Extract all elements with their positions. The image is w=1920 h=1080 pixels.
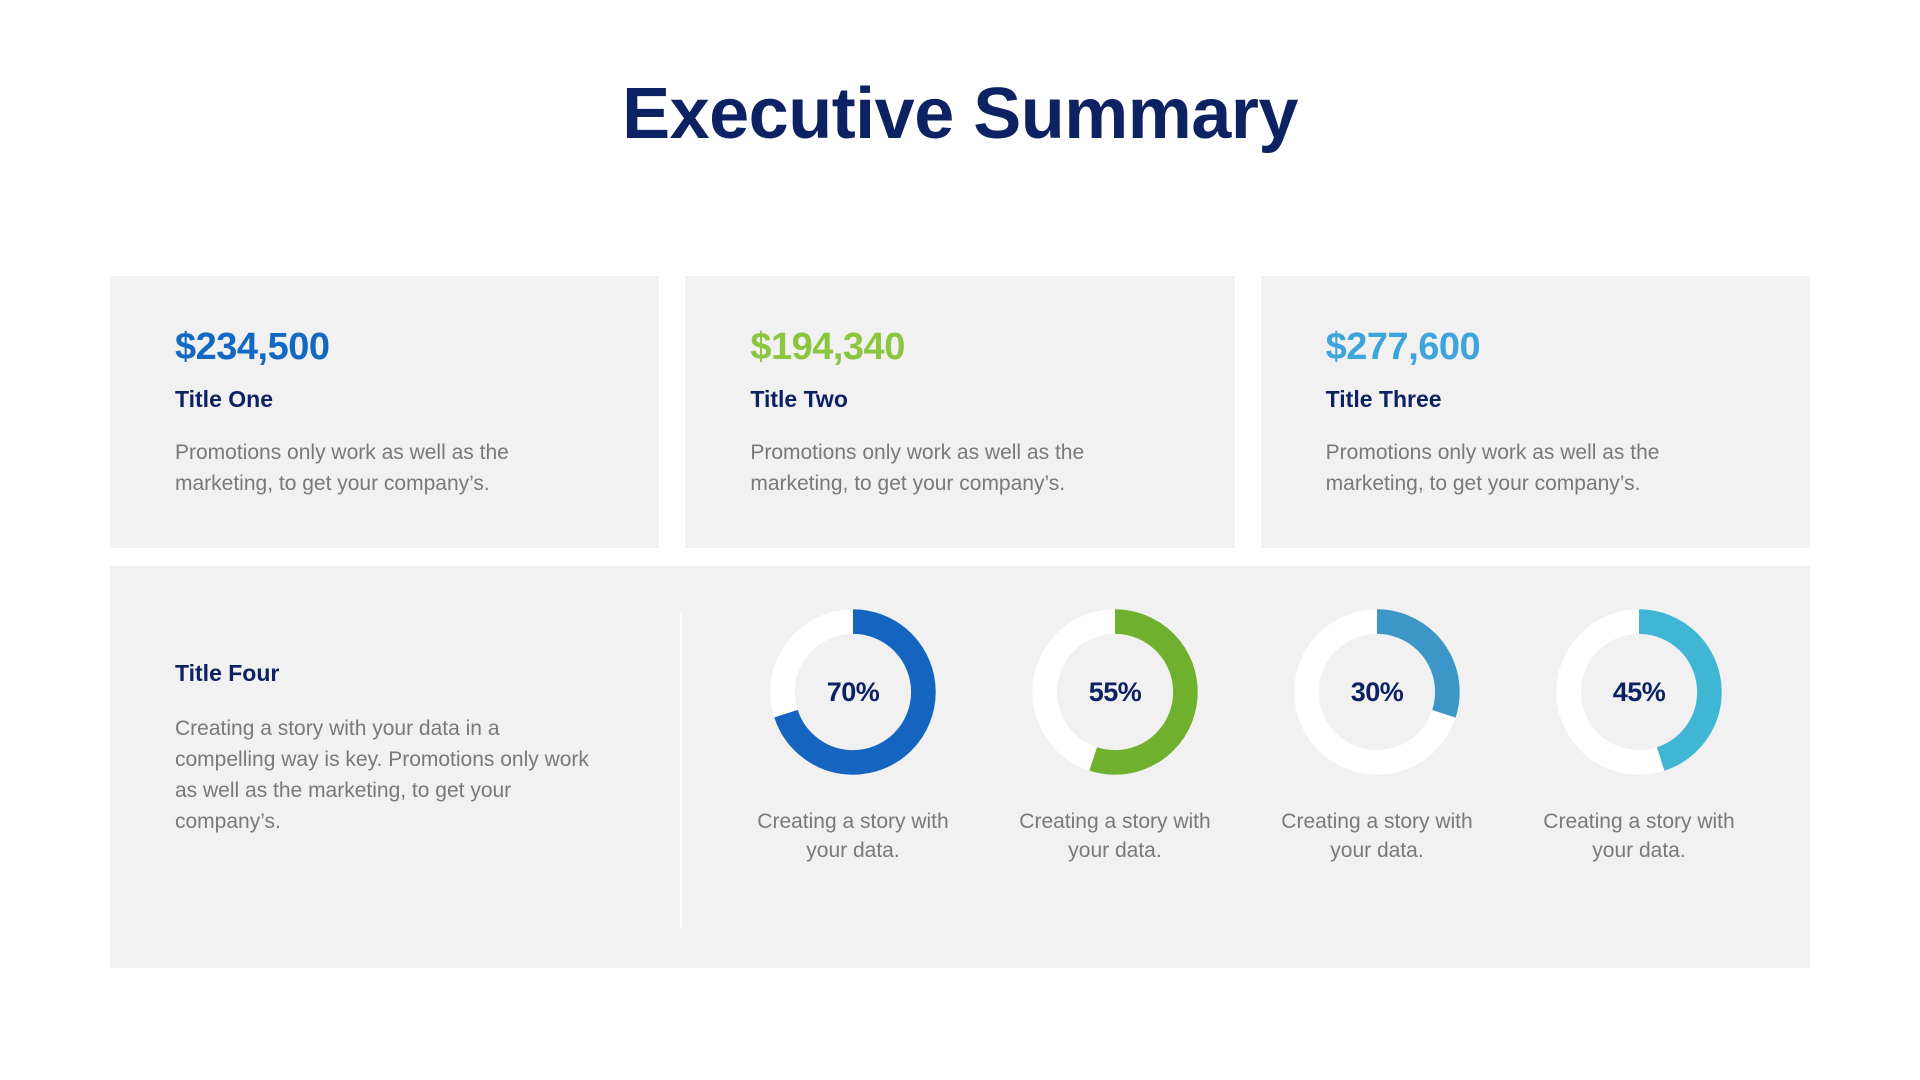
- donut-chart-three: 30%: [1289, 604, 1465, 780]
- bottom-panel: Title Four Creating a story with your da…: [110, 566, 1810, 968]
- stat-description: Promotions only work as well as the mark…: [1326, 437, 1756, 499]
- donut-percent-label: 70%: [765, 604, 941, 780]
- donut-caption: Creating a story with your data.: [753, 808, 953, 865]
- donut-caption: Creating a story with your data.: [1015, 808, 1215, 865]
- slide-canvas: Executive Summary $234,500 Title One Pro…: [0, 0, 1920, 1080]
- stat-value: $234,500: [175, 328, 659, 366]
- stat-title: Title Three: [1326, 388, 1810, 411]
- donut-chart-group: 70% Creating a story with your data. 55%…: [682, 566, 1810, 968]
- donut-chart-one: 70%: [765, 604, 941, 780]
- stat-title: Title Two: [750, 388, 1234, 411]
- panel-text-block: Title Four Creating a story with your da…: [110, 566, 680, 968]
- donut-item[interactable]: 45% Creating a story with your data.: [1514, 604, 1764, 865]
- donut-chart-two: 55%: [1027, 604, 1203, 780]
- donut-item[interactable]: 30% Creating a story with your data.: [1252, 604, 1502, 865]
- donut-item[interactable]: 55% Creating a story with your data.: [990, 604, 1240, 865]
- donut-item[interactable]: 70% Creating a story with your data.: [728, 604, 978, 865]
- panel-description: Creating a story with your data in a com…: [175, 713, 595, 837]
- donut-chart-four: 45%: [1551, 604, 1727, 780]
- stat-card-two[interactable]: $194,340 Title Two Promotions only work …: [685, 276, 1234, 548]
- stat-card-one[interactable]: $234,500 Title One Promotions only work …: [110, 276, 659, 548]
- panel-title: Title Four: [175, 662, 680, 685]
- donut-percent-label: 30%: [1289, 604, 1465, 780]
- donut-caption: Creating a story with your data.: [1539, 808, 1739, 865]
- donut-caption: Creating a story with your data.: [1277, 808, 1477, 865]
- page-title: Executive Summary: [0, 76, 1920, 154]
- stat-cards-row: $234,500 Title One Promotions only work …: [110, 276, 1810, 548]
- stat-title: Title One: [175, 388, 659, 411]
- donut-percent-label: 55%: [1027, 604, 1203, 780]
- stat-value: $194,340: [750, 328, 1234, 366]
- stat-description: Promotions only work as well as the mark…: [175, 437, 605, 499]
- donut-percent-label: 45%: [1551, 604, 1727, 780]
- stat-card-three[interactable]: $277,600 Title Three Promotions only wor…: [1261, 276, 1810, 548]
- stat-description: Promotions only work as well as the mark…: [750, 437, 1180, 499]
- stat-value: $277,600: [1326, 328, 1810, 366]
